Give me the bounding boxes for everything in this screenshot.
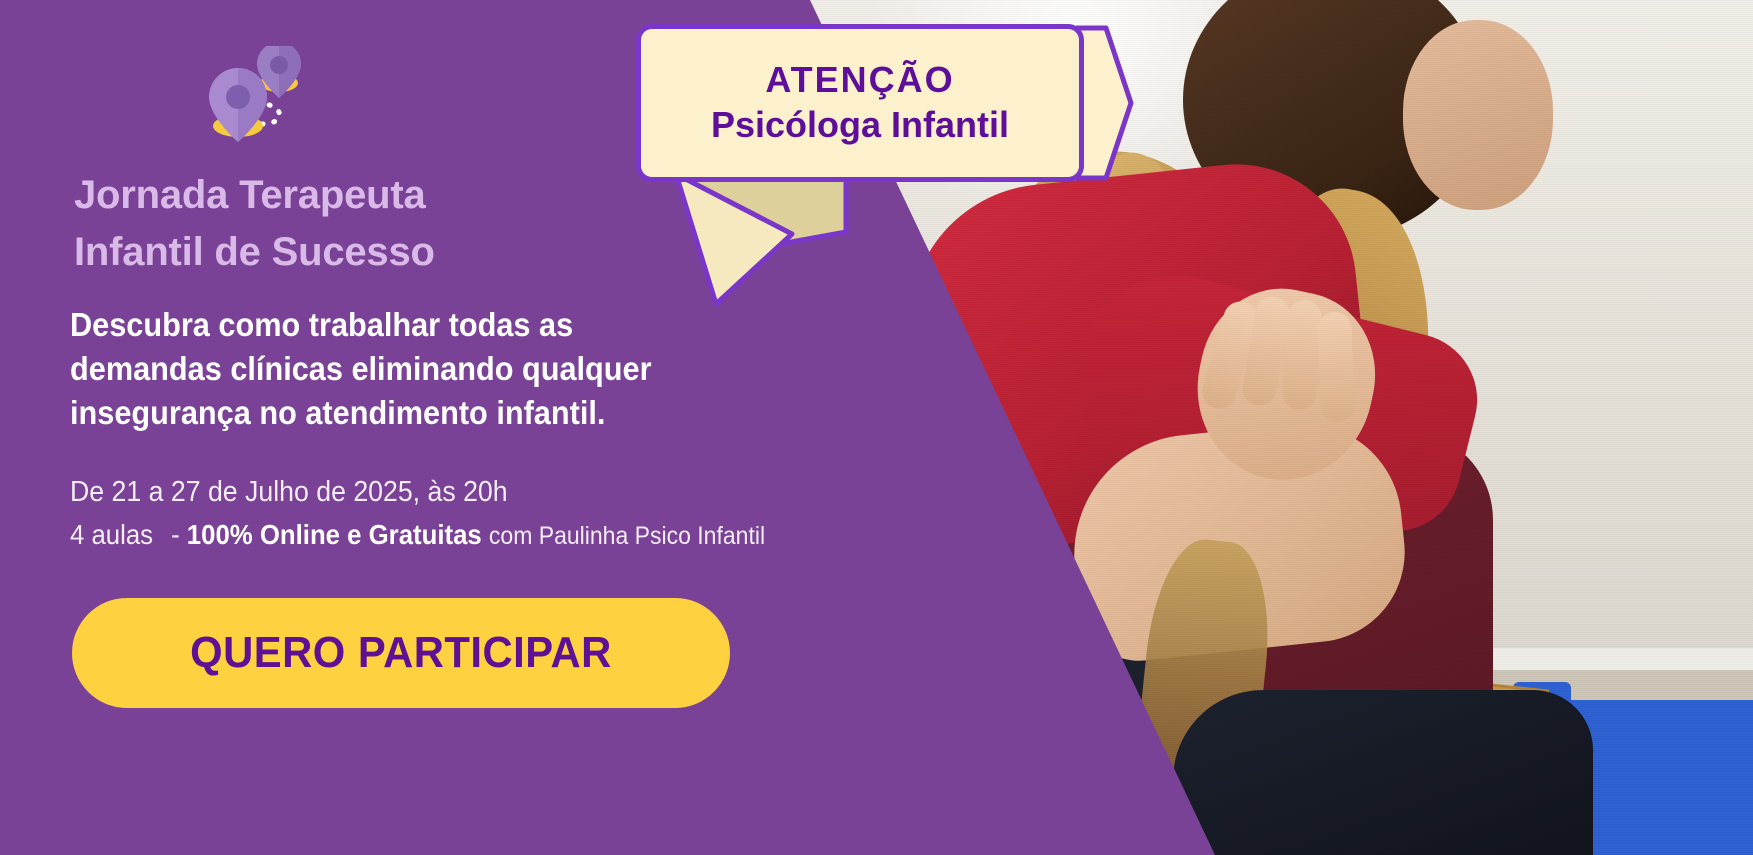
attention-callout-bubble: ATENÇÃO Psicóloga Infantil [636, 24, 1084, 182]
lead-line-1: Descubra como trabalhar todas as [70, 303, 749, 347]
lead-paragraph: Descubra como trabalhar todas as demanda… [70, 303, 749, 435]
detail-separator [153, 519, 171, 550]
free-online-highlight: 100% Online e Gratuitas [187, 519, 482, 550]
event-date-line: De 21 a 27 de Julho de 2025, às 20h [70, 470, 898, 514]
event-details: De 21 a 27 de Julho de 2025, às 20h 4 au… [70, 470, 970, 557]
bubble-nose-icon [1076, 24, 1136, 182]
bubble-line-2: Psicóloga Infantil [711, 103, 1009, 146]
detail-separator-dash: - [171, 519, 180, 550]
cta-label: QUERO PARTICIPAR [190, 628, 612, 678]
lead-line-3: insegurança no atendimento infantil. [70, 391, 749, 435]
presenter-name: com Paulinha Psico Infantil [489, 522, 765, 550]
bubble-tail-icon [670, 172, 900, 312]
bubble-line-1: ATENÇÃO [765, 60, 954, 100]
bubble-body: ATENÇÃO Psicóloga Infantil [636, 24, 1084, 182]
event-format-line: 4 aulas - 100% Online e Gratuitas com Pa… [70, 514, 898, 557]
lessons-count: 4 aulas [70, 519, 153, 550]
promo-banner: Jornada Terapeuta Infantil de Sucesso De… [0, 0, 1753, 855]
title-line-2: Infantil de Sucesso [74, 224, 774, 281]
page-title: Jornada Terapeuta Infantil de Sucesso [74, 167, 774, 281]
quero-participar-button[interactable]: QUERO PARTICIPAR [72, 598, 730, 708]
lead-line-2: demandas clínicas eliminando qualquer [70, 347, 749, 391]
journey-map-pins-icon [200, 46, 330, 144]
